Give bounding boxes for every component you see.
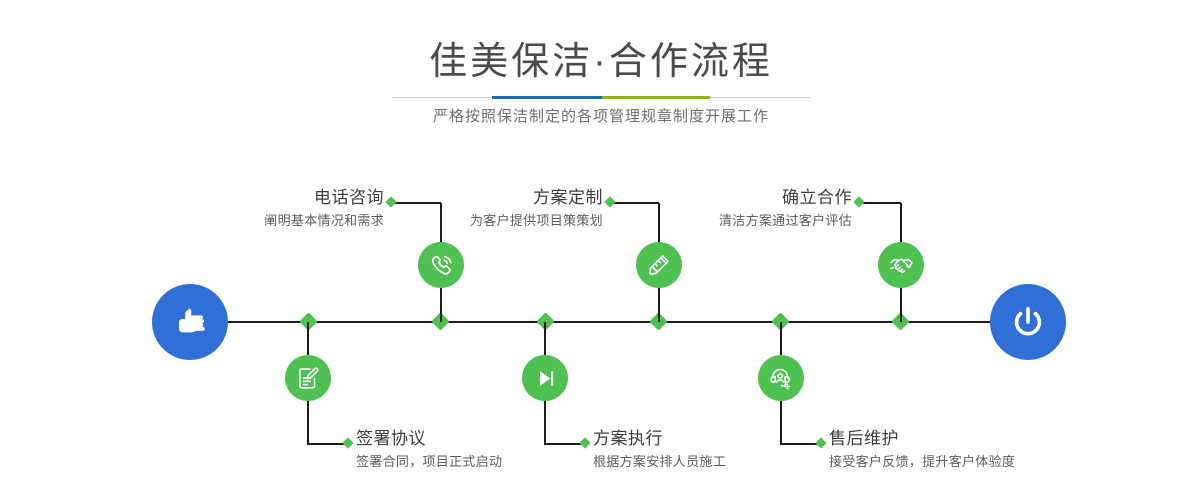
step-1-label: 电话咨询 阐明基本情况和需求: [154, 187, 384, 231]
divider-segment-green: [602, 96, 710, 99]
timeline-start-node: [152, 284, 228, 360]
step-4-label: 方案执行 根据方案安排人员施工: [593, 428, 726, 472]
step-1-title: 电话咨询: [154, 187, 384, 209]
play-execute-icon: [533, 366, 558, 391]
step-5-connector-vertical-upper: [900, 203, 902, 245]
step-5-node: [878, 242, 924, 288]
handshake-icon: [888, 252, 915, 279]
page-title: 佳美保洁·合作流程: [0, 38, 1202, 86]
step-6-label: 售后维护 接受客户反馈，提升客户体验度: [829, 428, 1015, 472]
step-5-label: 确立合作 清洁方案通过客户评估: [630, 187, 852, 231]
phone-call-icon: [428, 252, 455, 279]
step-2-label: 签署协议 签署合同，项目正式启动: [356, 428, 502, 472]
step-2-title: 签署协议: [356, 428, 502, 450]
step-6-label-marker: [815, 437, 826, 448]
hand-pointing-icon: [169, 301, 211, 343]
step-3-subtitle: 为客户提供项目策策划: [373, 211, 603, 231]
step-5-connector-vertical-lower: [900, 288, 902, 322]
step-1-connector-vertical-lower: [440, 288, 442, 322]
step-5-connector-horizontal: [861, 202, 901, 204]
step-4-connector-horizontal: [544, 443, 584, 445]
step-2-connector-vertical-lower: [307, 401, 309, 444]
step-3-title: 方案定制: [373, 187, 603, 209]
step-2-label-marker: [342, 437, 353, 448]
step-3-label: 方案定制 为客户提供项目策策划: [373, 187, 603, 231]
power-icon: [1007, 301, 1049, 343]
step-2-connector-horizontal: [307, 443, 347, 445]
divider-segment-left-rule: [392, 97, 492, 98]
step-3-label-marker: [604, 196, 615, 207]
step-6-node: [758, 355, 804, 401]
step-1-subtitle: 阐明基本情况和需求: [154, 211, 384, 231]
pencil-ruler-icon: [646, 252, 672, 278]
step-4-connector-vertical-upper: [544, 322, 546, 355]
step-5-label-marker: [853, 196, 864, 207]
step-2-connector-vertical-upper: [307, 322, 309, 355]
step-2-subtitle: 签署合同，项目正式启动: [356, 452, 502, 472]
step-4-title: 方案执行: [593, 428, 726, 450]
document-edit-icon: [295, 365, 321, 391]
divider-segment-blue: [492, 96, 602, 99]
step-6-connector-vertical-upper: [780, 322, 782, 355]
step-5-subtitle: 清洁方案通过客户评估: [630, 211, 852, 231]
step-4-subtitle: 根据方案安排人员施工: [593, 452, 726, 472]
step-6-connector-vertical-lower: [780, 401, 782, 444]
step-3-node: [636, 242, 682, 288]
timeline-end-node: [990, 284, 1066, 360]
step-6-title: 售后维护: [829, 428, 1015, 450]
step-4-connector-vertical-lower: [544, 401, 546, 444]
divider-segment-right-rule: [710, 97, 810, 98]
process-flow-infographic: 佳美保洁·合作流程 严格按照保洁制定的各项管理规章制度开展工作: [0, 0, 1202, 502]
title-divider: [392, 96, 810, 99]
step-2-node: [285, 355, 331, 401]
step-4-label-marker: [579, 437, 590, 448]
step-3-connector-vertical-lower: [658, 288, 660, 322]
step-5-title: 确立合作: [630, 187, 852, 209]
step-6-subtitle: 接受客户反馈，提升客户体验度: [829, 452, 1015, 472]
step-6-connector-horizontal: [780, 443, 820, 445]
customer-support-icon: [768, 365, 794, 391]
step-4-node: [522, 355, 568, 401]
page-subtitle: 严格按照保洁制定的各项管理规章制度开展工作: [0, 104, 1202, 130]
step-1-node: [418, 242, 464, 288]
